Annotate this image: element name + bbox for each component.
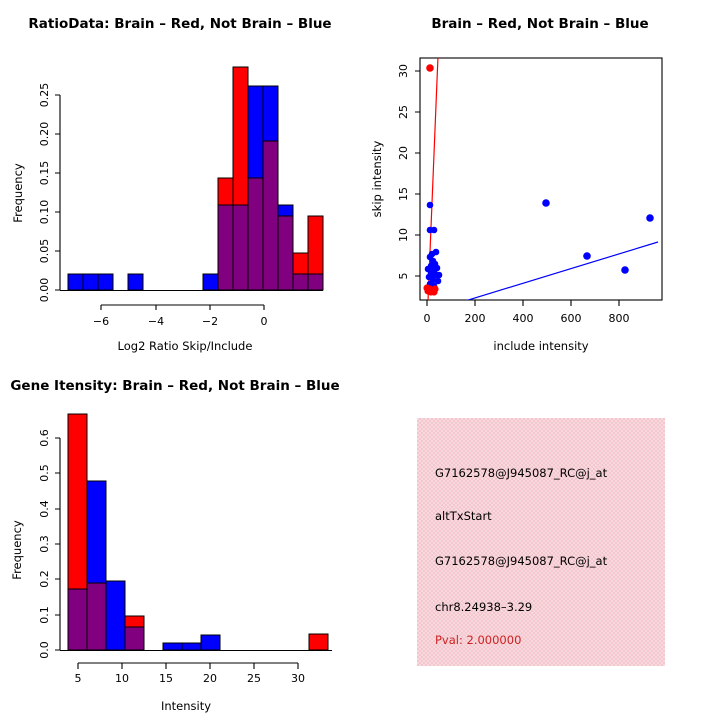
gene-y-axis-label: Frequency	[10, 520, 24, 580]
gene-ytick-1: 0.1	[38, 606, 51, 624]
gene-histogram-svg: Gene Itensity: Brain – Red, Not Brain – …	[0, 360, 360, 720]
gene-info-panel: G7162578@J945087_RC@j_at altTxStart G716…	[417, 418, 665, 666]
bar-blue	[98, 274, 113, 290]
ratio-ytick-4: 0.20	[38, 122, 51, 147]
ratio-xtick-1: −4	[148, 315, 164, 328]
gene-intensity-histogram-panel: Gene Itensity: Brain – Red, Not Brain – …	[0, 360, 360, 720]
ratio-histogram-title: RatioData: Brain – Red, Not Brain – Blue	[28, 16, 331, 32]
ratio-ytick-5: 0.25	[38, 83, 51, 108]
pval-label: Pval: 2.000000	[435, 633, 521, 647]
bar-blue	[201, 635, 220, 650]
scatter-xtick-4: 800	[609, 312, 630, 325]
not-brain-fit-line	[465, 242, 658, 301]
gene-ytick-2: 0.2	[38, 570, 51, 588]
gene-ytick-6: 0.6	[38, 429, 51, 447]
bar-blue	[163, 643, 182, 650]
ratio-ytick-2: 0.10	[38, 200, 51, 225]
gene-ytick-0: 0.0	[38, 641, 51, 659]
scatter-xtick-3: 600	[561, 312, 582, 325]
gene-xtick-5: 30	[291, 672, 305, 685]
ratio-ytick-3: 0.15	[38, 161, 51, 186]
not-brain-points	[425, 199, 654, 289]
scatter-x-axis-label: include intensity	[493, 339, 588, 353]
scatter-panel: Brain – Red, Not Brain – Blue	[360, 0, 720, 360]
bar-purple	[233, 205, 248, 290]
scatter-x-ticks	[427, 300, 619, 306]
scatter-frame	[420, 58, 662, 300]
ratio-xtick-0: −6	[93, 315, 109, 328]
gene-y-ticks	[55, 438, 60, 650]
gene-xtick-1: 10	[115, 672, 129, 685]
event-type-label: altTxStart	[435, 509, 492, 523]
bar-purple	[87, 583, 106, 650]
scatter-ytick-0: 5	[397, 273, 410, 280]
ratio-x-axis	[101, 305, 264, 310]
scatter-ytick-1: 10	[397, 228, 410, 242]
scatter-xtick-1: 200	[465, 312, 486, 325]
probe-id-2-label: G7162578@J945087_RC@j_at	[435, 554, 607, 568]
ratio-bars	[68, 67, 323, 290]
scatter-ytick-5: 30	[397, 64, 410, 78]
bar-blue	[83, 274, 98, 290]
bar-red	[309, 634, 328, 650]
scatter-xtick-0: 0	[424, 312, 431, 325]
scatter-ytick-3: 20	[397, 146, 410, 160]
bar-purple	[293, 274, 308, 290]
ratio-histogram-panel: RatioData: Brain – Red, Not Brain – Blue…	[0, 0, 360, 360]
ratio-xtick-3: 0	[261, 315, 268, 328]
gene-ytick-3: 0.3	[38, 535, 51, 553]
gene-x-axis-label: Intensity	[161, 699, 211, 713]
gene-ytick-4: 0.4	[38, 500, 51, 518]
probe-id-label: G7162578@J945087_RC@j_at	[435, 466, 607, 480]
ratio-x-axis-label: Log2 Ratio Skip/Include	[118, 339, 253, 353]
bar-blue	[106, 581, 125, 650]
bar-blue	[128, 274, 143, 290]
bar-blue	[182, 643, 201, 650]
gene-bars	[68, 414, 328, 650]
gene-histogram-title: Gene Itensity: Brain – Red, Not Brain – …	[10, 378, 339, 394]
ratio-y-axis-label: Frequency	[11, 163, 25, 223]
scatter-xtick-2: 400	[513, 312, 534, 325]
bar-blue	[68, 274, 83, 290]
ratio-ytick-0: 0.00	[38, 278, 51, 303]
ratio-y-ticks	[55, 95, 60, 290]
bar-purple	[68, 589, 87, 650]
bar-purple	[278, 216, 293, 290]
bar-blue	[203, 274, 218, 290]
scatter-data-layer	[423, 56, 658, 301]
gene-xtick-4: 25	[247, 672, 261, 685]
gene-xtick-3: 20	[203, 672, 217, 685]
scatter-y-axis-label: skip intensity	[370, 140, 384, 217]
gene-xtick-2: 15	[159, 672, 173, 685]
bar-purple	[248, 178, 263, 290]
ratio-histogram-svg: RatioData: Brain – Red, Not Brain – Blue…	[0, 0, 360, 360]
gene-x-axis	[78, 663, 298, 669]
scatter-ytick-4: 25	[397, 105, 410, 119]
gene-ytick-5: 0.5	[38, 464, 51, 482]
bar-purple	[263, 141, 278, 290]
gene-xtick-0: 5	[75, 672, 82, 685]
ratio-xtick-2: −2	[202, 315, 218, 328]
scatter-svg: Brain – Red, Not Brain – Blue	[360, 0, 720, 360]
scatter-ytick-2: 15	[397, 187, 410, 201]
locus-label: chr8.24938–3.29	[435, 600, 532, 614]
scatter-title: Brain – Red, Not Brain – Blue	[431, 16, 648, 32]
ratio-ytick-1: 0.05	[38, 239, 51, 264]
bar-purple	[218, 205, 233, 290]
bar-purple	[308, 274, 323, 290]
bar-purple	[125, 627, 144, 650]
scatter-y-ticks	[415, 71, 420, 276]
